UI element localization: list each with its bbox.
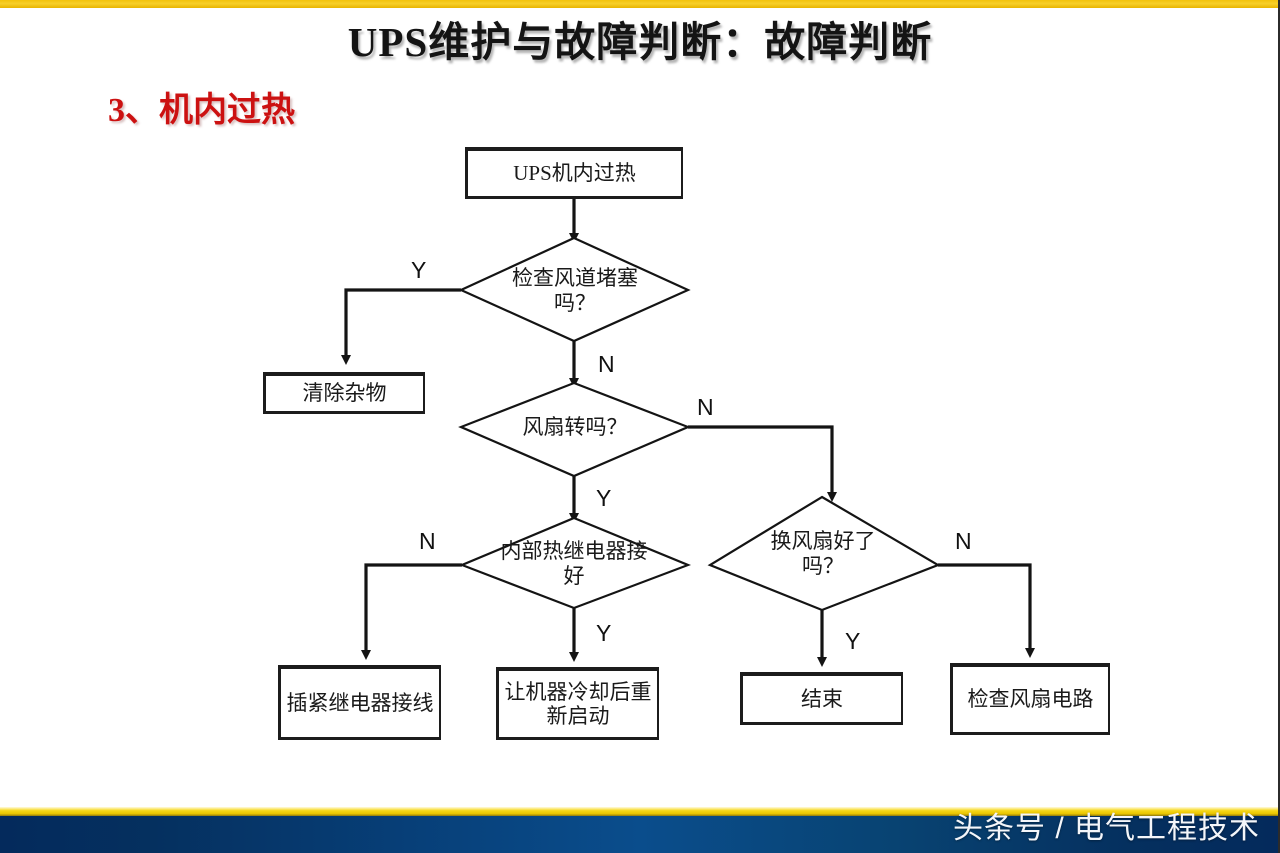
branch-label-d3-no: N xyxy=(419,528,436,555)
branch-label-d4-yes: Y xyxy=(845,628,860,655)
branch-label-d2-no: N xyxy=(697,394,714,421)
branch-label-d3-yes: Y xyxy=(596,620,611,647)
edge-d3-no-to-relay-wire xyxy=(366,565,462,655)
node-end: 结束 xyxy=(740,672,903,725)
diamond-fan-replaced xyxy=(710,497,938,610)
edge-d4-no-to-fan-circuit xyxy=(938,565,1030,653)
watermark-credit: 头条号 / 电气工程技术 xyxy=(953,803,1260,847)
diamond-check-airduct xyxy=(461,238,688,341)
edge-d2-no-to-d4 xyxy=(688,427,832,497)
diamond-thermal-relay xyxy=(462,518,688,608)
node-check-fan-circuit: 检查风扇电路 xyxy=(950,663,1110,735)
branch-label-d4-no: N xyxy=(955,528,972,555)
branch-label-d1-yes: Y xyxy=(411,257,426,284)
branch-label-d2-yes: Y xyxy=(596,485,611,512)
edge-d1-yes-to-clear xyxy=(346,290,461,360)
node-cool-and-restart: 让机器冷却后重新启动 xyxy=(496,667,659,740)
node-ups-overheat: UPS机内过热 xyxy=(465,147,683,199)
node-clear-debris: 清除杂物 xyxy=(263,372,425,414)
slide-canvas: UPS维护与故障判断：故障判断 3、机内过热 xyxy=(0,0,1280,853)
branch-label-d1-no: N xyxy=(598,351,615,378)
diamond-fan-spinning xyxy=(461,383,688,476)
node-tighten-relay-wiring: 插紧继电器接线 xyxy=(278,665,441,740)
